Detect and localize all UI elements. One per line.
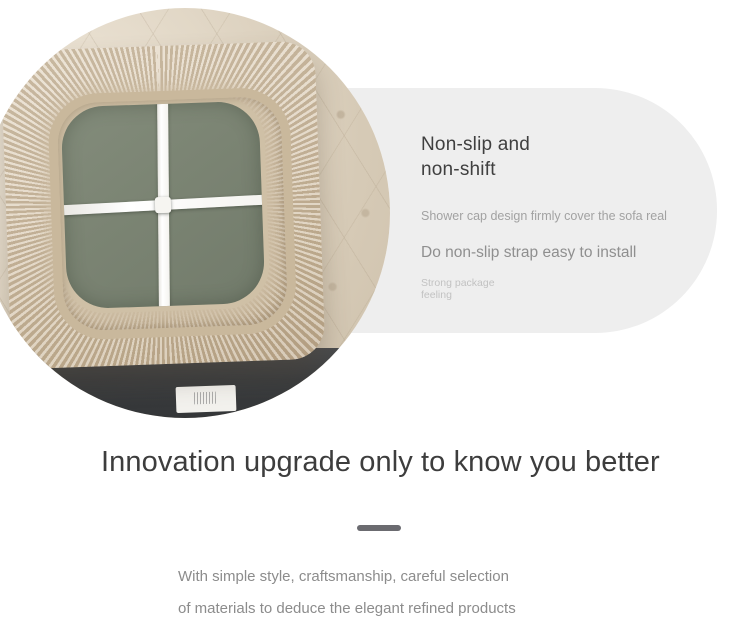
feature-sub-a: Shower cap design firmly cover the sofa … (421, 182, 711, 224)
statement-body-line-1: With simple style, craftsmanship, carefu… (178, 561, 598, 593)
feature-heading-line-1: Non-slip and (421, 134, 530, 155)
slipcover-body (1, 41, 326, 370)
statement-divider (357, 525, 401, 531)
statement-body-line-2: of materials to deduce the elegant refin… (178, 593, 598, 625)
feature-sub-c-line-1: Strong package (421, 277, 495, 289)
statement-section: Innovation upgrade only to know you bett… (0, 425, 750, 634)
feature-sub-c: Strong packagefeeling (421, 263, 711, 301)
feature-heading: Non-slip andnon-shift (421, 132, 711, 182)
cushion-underside (61, 101, 266, 310)
promo-section: Non-slip andnon-shift Shower cap design … (0, 0, 750, 425)
statement-body: With simple style, craftsmanship, carefu… (178, 561, 598, 625)
feature-copy: Non-slip andnon-shift Shower cap design … (421, 132, 711, 301)
statement-title: Innovation upgrade only to know you bett… (101, 443, 660, 481)
product-photo-inner (0, 8, 390, 418)
feature-heading-line-2: non-shift (421, 159, 496, 180)
product-hang-tag (176, 385, 237, 413)
strap-knot (155, 197, 172, 214)
product-photo (0, 8, 390, 418)
feature-sub-b: Do non-slip strap easy to install (421, 224, 711, 263)
feature-sub-c-line-2: feeling (421, 289, 452, 301)
